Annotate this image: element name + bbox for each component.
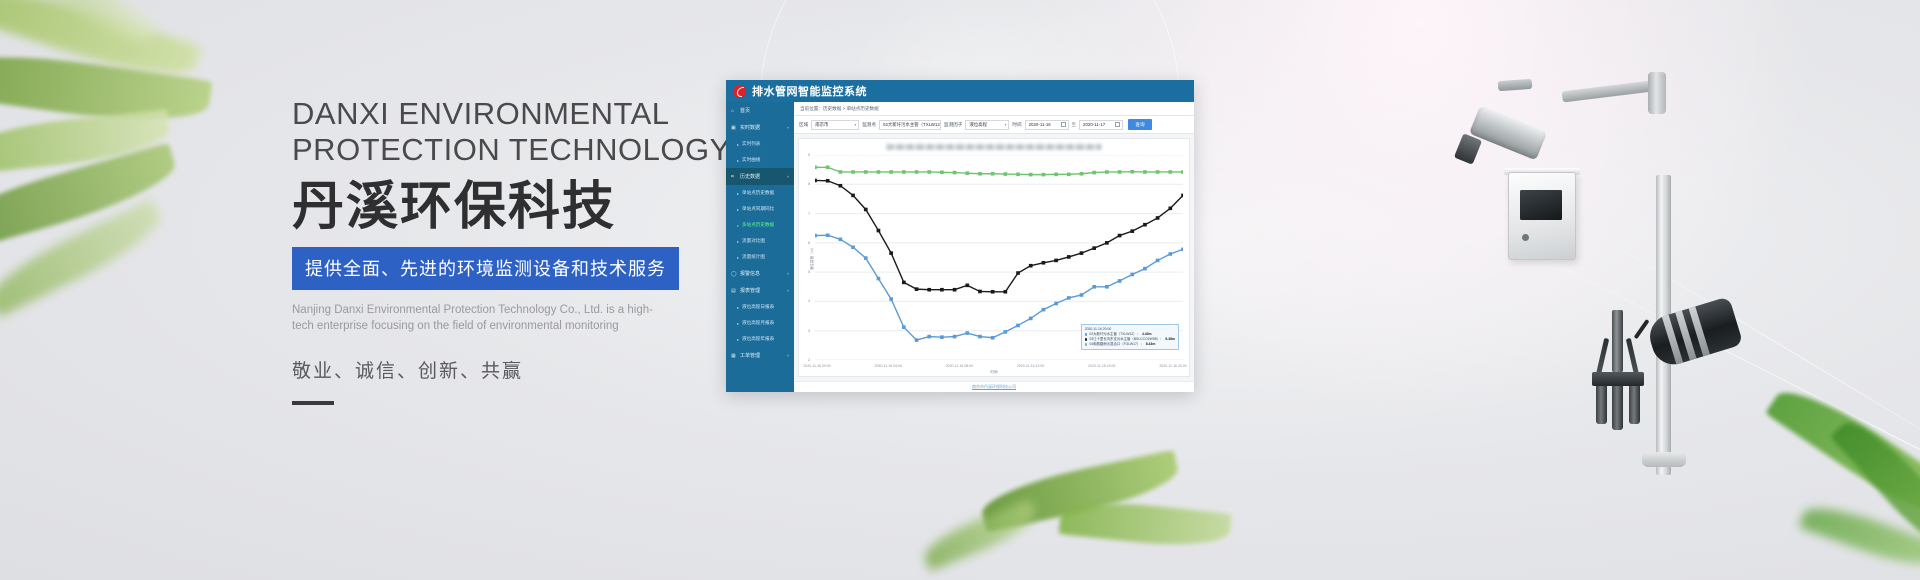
chart-point xyxy=(1016,324,1020,328)
chart-point xyxy=(927,335,931,339)
sidebar-subitem-label: 单站点同期同比 xyxy=(742,206,774,212)
site-value: 02大新圩污水主管（TXLW12） xyxy=(883,122,941,128)
chart-point xyxy=(1080,293,1084,297)
sidebar-item-1[interactable]: ▣实时数据˄ xyxy=(726,119,794,136)
series-color-dot xyxy=(1085,338,1088,341)
chart-point xyxy=(1067,173,1071,177)
chart-point xyxy=(864,170,868,174)
sidebar-item-label: 报表管理 xyxy=(740,287,760,294)
chevron-icon: ˄ xyxy=(787,174,789,179)
chart-y-tick: 7 xyxy=(808,212,810,216)
dashboard-title: 排水管网智能监控系统 xyxy=(752,83,867,99)
query-button[interactable]: 查询 xyxy=(1128,119,1152,130)
tooltip-series-label: 04和燕路雨污混合口（FGLW17）： xyxy=(1089,342,1143,347)
chart-tooltip: 2020-11-16 20:0002大新圩污水主管（TXLW12）：4.42m0… xyxy=(1081,324,1179,350)
chart-point xyxy=(1118,234,1122,238)
chart-point xyxy=(864,256,868,260)
sidebar-subitem-14[interactable]: 液位高程年报表 xyxy=(726,331,794,347)
shield-logo-icon xyxy=(733,85,746,98)
chart-y-tick: 8 xyxy=(808,182,810,186)
chart-point xyxy=(1004,290,1008,294)
chart-point xyxy=(991,290,995,294)
chart-point xyxy=(864,208,868,212)
sidebar-subitem-label: 多站点历史数据 xyxy=(742,222,774,228)
camera-arm xyxy=(1562,81,1653,103)
chart-series-2 xyxy=(815,167,1183,174)
hero-text-block: DANXI ENVIRONMENTAL PROTECTION TECHNOLOG… xyxy=(292,96,712,405)
date-start-value: 2020-11-16 xyxy=(1029,122,1051,127)
hero-slogan-bar: 提供全面、先进的环境监测设备和技术服务 xyxy=(292,247,679,290)
pole-base xyxy=(1642,452,1686,467)
equipment-photo-group xyxy=(1480,20,1920,520)
tooltip-row: 04和燕路雨污混合口（FGLW17）：8.43m xyxy=(1085,342,1175,347)
hero-english-title-line2: PROTECTION TECHNOLOGY xyxy=(292,132,712,168)
chart-point xyxy=(1168,252,1172,256)
report-icon: ▤ xyxy=(731,288,737,294)
time-label: 时间 xyxy=(1012,122,1021,128)
bell-icon: ◯ xyxy=(731,271,737,277)
sidebar-subitem-label: 实时列表 xyxy=(742,141,760,147)
chart-point xyxy=(1004,330,1008,334)
chart-y-tick: 3 xyxy=(808,329,810,333)
series-color-dot xyxy=(1085,343,1088,346)
chart-point xyxy=(1156,216,1160,220)
sidebar-item-11[interactable]: ▤报表管理˄ xyxy=(726,282,794,299)
dashboard-sidebar[interactable]: ⌂首页▣实时数据˄实时列表实时曲线⌗历史数据˄单站点历史数据单站点同期同比多站点… xyxy=(726,102,794,392)
chart-x-tick: 2020-11-16 20:00 xyxy=(1159,364,1186,368)
chevron-icon: ˄ xyxy=(787,125,789,130)
cabinet-lock-knob xyxy=(1522,234,1529,241)
sidebar-item-label: 实时数据 xyxy=(740,124,760,131)
chart-point xyxy=(815,234,817,238)
chart-point xyxy=(1130,273,1134,277)
chart-point xyxy=(851,194,855,198)
chart-point xyxy=(1105,170,1109,174)
chart-point xyxy=(877,229,881,233)
chart-point xyxy=(1130,229,1134,233)
chart-point xyxy=(953,335,957,339)
chart-point xyxy=(902,325,906,329)
monitoring-dashboard-window[interactable]: 排水管网智能监控系统 ⌂首页▣实时数据˄实时列表实时曲线⌗历史数据˄单站点历史数… xyxy=(726,80,1194,392)
probe-leg xyxy=(1596,386,1607,424)
chart-point xyxy=(915,287,919,291)
chart-point xyxy=(839,184,843,188)
chevron-icon: ˅ xyxy=(787,271,789,276)
sidebar-subitem-9[interactable]: 流量统计图 xyxy=(726,249,794,265)
sidebar-subitem-12[interactable]: 液位高程日报表 xyxy=(726,299,794,315)
chart-point xyxy=(1029,173,1033,177)
sidebar-item-label: 首页 xyxy=(740,107,750,114)
date-end-input[interactable]: 2020-11-17 xyxy=(1079,120,1123,130)
bamboo-leaf-icon xyxy=(919,499,1042,572)
date-end-value: 2020-11-17 xyxy=(1083,122,1105,127)
chart-series-1 xyxy=(815,180,1183,291)
chart-point xyxy=(889,170,893,174)
sidebar-subitem-label: 单站点历史数据 xyxy=(742,190,774,196)
chart-point xyxy=(991,172,995,176)
sidebar-item-10[interactable]: ◯报警信息˅ xyxy=(726,265,794,282)
chart-card[interactable]: 液位高程（m） 时间 23456789 2020-11-16 00:002020… xyxy=(798,138,1190,377)
chart-point xyxy=(915,170,919,174)
chart-point xyxy=(1054,173,1058,177)
sidebar-subitem-8[interactable]: 流量对比图 xyxy=(726,233,794,249)
cabinet-display-screen xyxy=(1520,190,1562,220)
chart-point xyxy=(965,331,969,335)
filter-toolbar[interactable]: 区域 南京市 ▾ 监测点 02大新圩污水主管（TXLW12） 监测因子 液位高程… xyxy=(794,116,1194,134)
monitor-icon: ▣ xyxy=(731,125,737,131)
chart-y-tick: 5 xyxy=(808,270,810,274)
chart-point xyxy=(1042,308,1046,312)
sidebar-subitem-label: 液位高程年报表 xyxy=(742,336,774,342)
chart-point xyxy=(826,165,830,169)
chart-point xyxy=(1143,170,1147,174)
sidebar-item-label: 工单管理 xyxy=(740,352,760,359)
chart-point xyxy=(1042,173,1046,177)
chart-x-tick: 2020-11-16 08:00 xyxy=(946,364,973,368)
sidebar-item-label: 历史数据 xyxy=(740,173,760,180)
chart-point xyxy=(978,172,982,176)
chart-point xyxy=(1016,173,1020,177)
chart-point xyxy=(1080,172,1084,176)
region-value: 南京市 xyxy=(815,122,828,128)
camera-lens-icon xyxy=(1454,133,1482,165)
chart-title-placeholder xyxy=(887,144,1102,150)
hero-banner: DANXI ENVIRONMENTAL PROTECTION TECHNOLOG… xyxy=(0,0,1920,580)
chart-point xyxy=(1118,279,1122,283)
chart-point xyxy=(1143,267,1147,271)
chart-point xyxy=(1105,285,1109,289)
sidebar-subitem-13[interactable]: 液位高程月报表 xyxy=(726,315,794,331)
chevron-icon: ˄ xyxy=(787,288,789,293)
probe-stem xyxy=(1612,310,1623,372)
sidebar-subitem-label: 实时曲线 xyxy=(742,157,760,163)
chart-point xyxy=(1092,246,1096,250)
sidebar-item-15[interactable]: ▦工单管理˅ xyxy=(726,347,794,364)
chart-x-tick: 2020-11-16 04:00 xyxy=(875,364,902,368)
chart-point xyxy=(1156,259,1160,263)
chart-point xyxy=(889,297,893,301)
hero-underline-rule xyxy=(292,401,334,405)
chart-y-tick: 9 xyxy=(808,153,810,157)
dashboard-content: 当前位置：历史数据 > 单站点历史数据 区域 南京市 ▾ 监测点 02大新圩污水… xyxy=(794,102,1194,392)
chart-point xyxy=(953,288,957,292)
hero-english-title-line1: DANXI ENVIRONMENTAL xyxy=(292,96,712,132)
sidebar-subitem-3[interactable]: 实时曲线 xyxy=(726,152,794,168)
chart-point xyxy=(1130,170,1134,174)
date-range-separator: 至 xyxy=(1072,122,1076,128)
chevron-down-icon: ▾ xyxy=(854,123,856,127)
chart-point xyxy=(1181,247,1183,251)
chart-point xyxy=(889,251,893,255)
home-icon: ⌂ xyxy=(731,108,737,114)
chart-point xyxy=(1080,251,1084,255)
hero-motto: 敬业、诚信、创新、共赢 xyxy=(292,356,712,383)
sidebar-item-4[interactable]: ⌗历史数据˄ xyxy=(726,168,794,185)
site-select[interactable]: 02大新圩污水主管（TXLW12） xyxy=(879,120,941,130)
chart-point xyxy=(1054,259,1058,263)
chart-y-tick: 2 xyxy=(808,358,810,362)
tooltip-series-value: 6.38m xyxy=(1165,337,1175,342)
cctv-camera-icon xyxy=(1469,106,1547,161)
sidebar-subitem-7[interactable]: 多站点历史数据 xyxy=(726,217,794,233)
chart-point xyxy=(1168,170,1172,174)
chart-point xyxy=(1016,271,1020,275)
chevron-icon: ˅ xyxy=(787,353,789,358)
chart-point xyxy=(991,336,995,340)
date-start-input[interactable]: 2020-11-16 xyxy=(1025,120,1069,130)
chart-x-tick: 2020-11-16 00:00 xyxy=(803,364,830,368)
chart-point xyxy=(1054,302,1058,306)
sidebar-subitem-label: 流量对比图 xyxy=(742,238,765,244)
region-select[interactable]: 南京市 ▾ xyxy=(811,120,859,130)
chart-point xyxy=(1029,264,1033,268)
chart-point xyxy=(1092,285,1096,289)
factor-select[interactable]: 液位高程 ▾ xyxy=(965,120,1009,130)
ticket-icon: ▦ xyxy=(731,353,737,359)
chart-point xyxy=(1067,255,1071,259)
chart-point xyxy=(877,277,881,281)
dashboard-header: 排水管网智能监控系统 xyxy=(726,80,1194,102)
chart-x-axis-label: 时间 xyxy=(990,370,997,375)
sidebar-subitem-2[interactable]: 实时列表 xyxy=(726,136,794,152)
chart-point xyxy=(851,245,855,249)
chart-point xyxy=(1004,172,1008,176)
chart-point xyxy=(839,238,843,242)
chart-point xyxy=(1168,206,1172,210)
hero-chinese-title: 丹溪环保科技 xyxy=(292,176,712,238)
probe-tine xyxy=(1626,338,1639,376)
chart-x-tick: 2020-11-16 12:00 xyxy=(1017,364,1044,368)
hero-english-description: Nanjing Danxi Environmental Protection T… xyxy=(292,302,672,334)
sidebar-subitem-6[interactable]: 单站点同期同比 xyxy=(726,201,794,217)
chevron-down-icon: ▾ xyxy=(1005,123,1007,127)
chart-point xyxy=(1029,317,1033,321)
chart-point xyxy=(1181,170,1183,174)
chart-point xyxy=(1042,261,1046,265)
sidebar-subitem-label: 液位高程日报表 xyxy=(742,304,774,310)
chart-point xyxy=(1181,194,1183,198)
chart-x-tick: 2020-11-16 16:00 xyxy=(1088,364,1115,368)
factor-label: 监测因子 xyxy=(944,122,962,128)
chart-point xyxy=(953,171,957,175)
chart-point xyxy=(877,170,881,174)
sidebar-subitem-label: 流量统计图 xyxy=(742,254,765,260)
probe-leg xyxy=(1629,386,1640,424)
region-label: 区域 xyxy=(799,122,808,128)
tooltip-series-value: 8.43m xyxy=(1146,342,1156,347)
probe-leg xyxy=(1612,386,1623,430)
chart-point xyxy=(826,233,830,237)
chart-point xyxy=(927,288,931,292)
chart-point xyxy=(1067,296,1071,300)
bamboo-leaf-icon xyxy=(1058,496,1231,552)
site-label: 监测点 xyxy=(862,122,876,128)
sensor-probe-icon xyxy=(1592,310,1644,428)
probe-tine xyxy=(1596,338,1609,376)
sidebar-subitem-5[interactable]: 单站点历史数据 xyxy=(726,185,794,201)
chart-point xyxy=(940,288,944,292)
camera-mount xyxy=(1498,79,1533,91)
sidebar-item-label: 报警信息 xyxy=(740,270,760,277)
chart-y-tick: 4 xyxy=(808,299,810,303)
chart-y-tick: 6 xyxy=(808,241,810,245)
chart-icon: ⌗ xyxy=(731,174,737,180)
chart-point xyxy=(1156,170,1160,174)
chart-point xyxy=(978,290,982,294)
chart-point xyxy=(851,170,855,174)
chart-point xyxy=(839,170,843,174)
sidebar-item-0[interactable]: ⌂首页 xyxy=(726,102,794,119)
chart-point xyxy=(826,179,830,183)
chart-point xyxy=(902,281,906,285)
chart-point xyxy=(902,170,906,174)
breadcrumb: 当前位置：历史数据 > 单站点历史数据 xyxy=(794,102,1194,116)
chart-point xyxy=(815,165,817,169)
chart-point xyxy=(978,335,982,339)
series-color-dot xyxy=(1085,333,1088,336)
chart-point xyxy=(965,284,969,288)
pole-joint xyxy=(1648,72,1666,114)
chart-point xyxy=(815,179,817,183)
calendar-icon xyxy=(1061,122,1066,127)
sidebar-subitem-label: 液位高程月报表 xyxy=(742,320,774,326)
probe-plate xyxy=(1592,372,1644,386)
chart-point xyxy=(1092,171,1096,175)
chart-point xyxy=(927,170,931,174)
calendar-icon xyxy=(1115,122,1120,127)
chart-point xyxy=(1118,170,1122,174)
chart-point xyxy=(940,335,944,339)
dashboard-footer: 南京市丹溪环保科技公司 xyxy=(794,381,1194,392)
chart-point xyxy=(965,171,969,175)
factor-value: 液位高程 xyxy=(969,122,987,128)
chart-point xyxy=(1143,223,1147,227)
chart-point xyxy=(915,338,919,342)
chart-point xyxy=(1105,241,1109,245)
chart-point xyxy=(940,170,944,174)
footer-company-link[interactable]: 南京市丹溪环保科技公司 xyxy=(972,384,1016,390)
